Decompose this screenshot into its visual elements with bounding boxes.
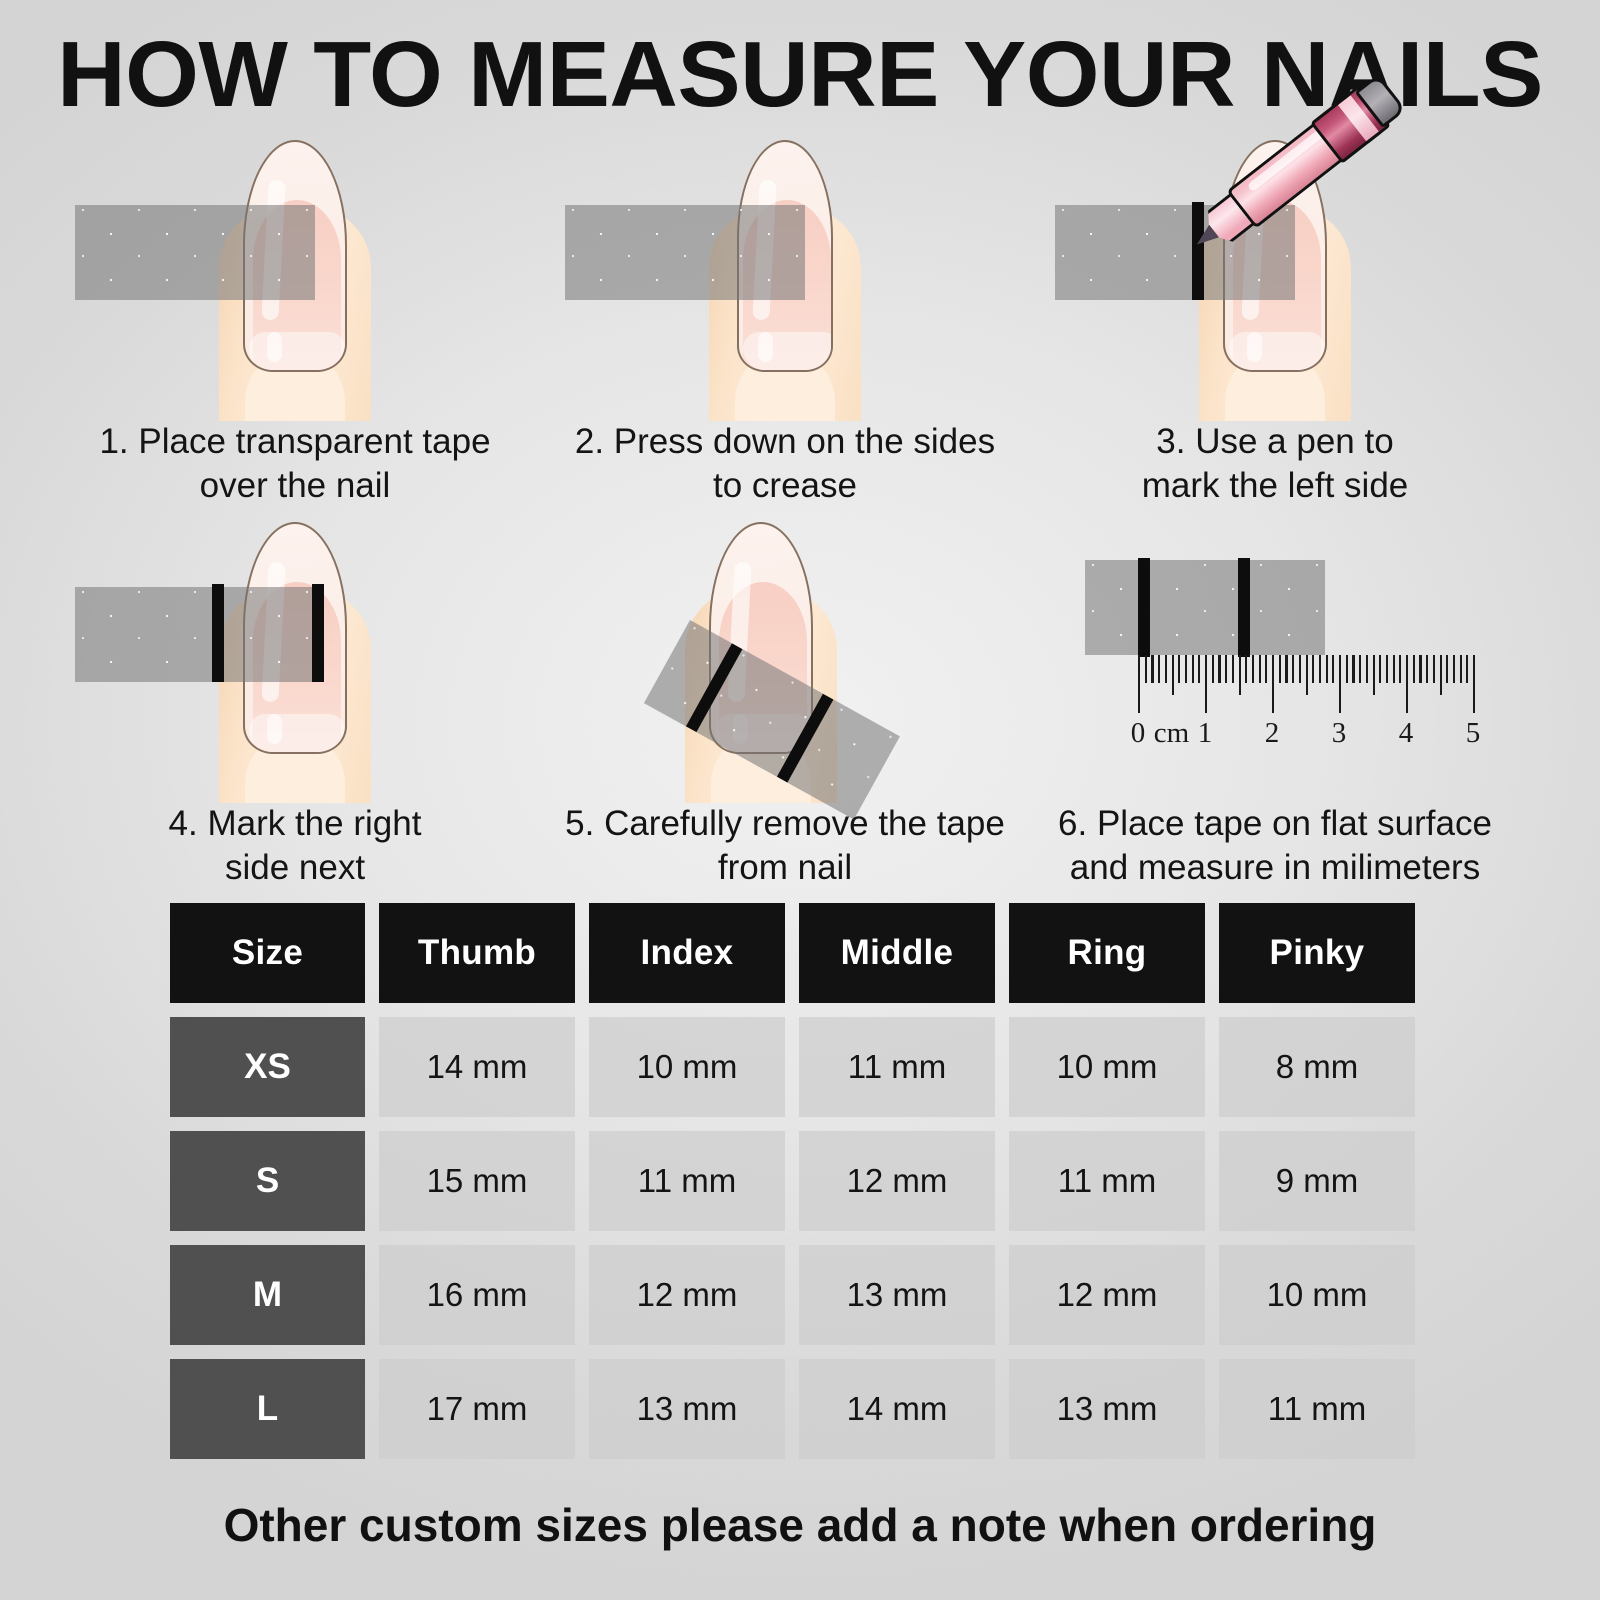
- table-cell-value: 13 mm: [799, 1245, 995, 1345]
- step-5-caption-line1: 5. Carefully remove the tape: [565, 804, 1005, 843]
- table-cell-value: 15 mm: [379, 1131, 575, 1231]
- ruler-tick-major: [1406, 655, 1408, 713]
- table-cell-value: 13 mm: [589, 1359, 785, 1459]
- table-header-pinky: Pinky: [1219, 903, 1415, 1003]
- step-3-caption-line2: mark the left side: [1142, 466, 1409, 505]
- step-3: 3. Use a pen to mark the left side: [1040, 130, 1510, 405]
- ruler-tick-minor: [1426, 655, 1428, 683]
- tape-strip-icon: [75, 587, 315, 682]
- tape-texture: [565, 205, 805, 300]
- ruler-tick-major: [1272, 655, 1274, 713]
- ruler-tick-minor: [1312, 655, 1314, 683]
- ruler-tick-minor: [1460, 655, 1462, 683]
- table-cell-value: 11 mm: [799, 1017, 995, 1117]
- ruler-tick-minor: [1185, 655, 1187, 683]
- ruler-label-1: 1: [1198, 717, 1213, 750]
- step-6-caption-line2: and measure in milimeters: [1070, 848, 1480, 887]
- step-4-caption-line2: side next: [225, 848, 365, 887]
- ruler-tick-minor: [1413, 655, 1415, 683]
- table-row: M16 mm12 mm13 mm12 mm10 mm: [170, 1245, 1466, 1345]
- ruler-tick-minor: [1279, 655, 1281, 683]
- ruler-tick-minor: [1212, 655, 1214, 683]
- step-4-illustration: [60, 512, 530, 787]
- ruler-tick-minor: [1245, 655, 1247, 683]
- ruler-tick-minor: [1386, 655, 1388, 683]
- ruler-tick-half: [1239, 655, 1241, 695]
- ruler-tick-half: [1306, 655, 1308, 695]
- ruler-tick-minor: [1352, 655, 1354, 683]
- step-3-caption: 3. Use a pen to mark the left side: [1040, 420, 1510, 509]
- step-3-caption-line1: 3. Use a pen to: [1156, 422, 1393, 461]
- tape-texture: [75, 587, 315, 682]
- ruler-tick-major: [1339, 655, 1341, 713]
- step-6-caption: 6. Place tape on flat surface and measur…: [1025, 802, 1525, 891]
- step-4-caption: 4. Mark the right side next: [60, 802, 530, 891]
- ruler-tick-minor: [1178, 655, 1180, 683]
- table-cell-value: 12 mm: [589, 1245, 785, 1345]
- nail-gloss-small: [758, 332, 773, 362]
- table-row: XS14 mm10 mm11 mm10 mm8 mm: [170, 1017, 1466, 1117]
- ruler-tick-minor: [1192, 655, 1194, 683]
- ruler-tick-minor: [1165, 655, 1167, 683]
- nail-tip: [1229, 332, 1325, 370]
- ruler-tick-major: [1138, 655, 1140, 713]
- tape-strip-icon: [75, 205, 315, 300]
- table-header-middle: Middle: [799, 903, 995, 1003]
- ruler-tick-major: [1473, 655, 1475, 713]
- nail-gloss-small: [267, 714, 282, 744]
- ruler-tick-minor: [1225, 655, 1227, 683]
- ruler-label-3: 3: [1332, 717, 1347, 750]
- ruler-tick-minor: [1265, 655, 1267, 683]
- ruler-tick-minor: [1446, 655, 1448, 683]
- ruler-tick-minor: [1379, 655, 1381, 683]
- step-5-illustration: [550, 512, 1020, 787]
- pen-mark-left: [212, 584, 224, 682]
- ruler-tick-minor: [1326, 655, 1328, 683]
- table-size-label: XS: [170, 1017, 365, 1117]
- table-cell-value: 17 mm: [379, 1359, 575, 1459]
- nail-tip: [249, 332, 345, 370]
- table-cell-value: 11 mm: [1219, 1359, 1415, 1459]
- nail-gloss-small: [1247, 332, 1262, 362]
- pen-mark-left: [1138, 558, 1150, 657]
- table-cell-value: 13 mm: [1009, 1359, 1205, 1459]
- tape-texture: [1085, 560, 1325, 655]
- step-2-illustration: [550, 130, 1020, 405]
- table-cell-value: 10 mm: [1219, 1245, 1415, 1345]
- table-cell-value: 10 mm: [1009, 1017, 1205, 1117]
- pen-mark-right: [312, 584, 324, 682]
- table-cell-value: 14 mm: [379, 1017, 575, 1117]
- ruler-tick-minor: [1151, 655, 1153, 683]
- pen-mark-right: [1238, 558, 1250, 657]
- step-5-caption: 5. Carefully remove the tape from nail: [550, 802, 1020, 891]
- ruler-tick-minor: [1366, 655, 1368, 683]
- step-1-illustration: [60, 130, 530, 405]
- nail-tip: [249, 714, 345, 752]
- ruler-tick-half: [1440, 655, 1442, 695]
- step-1-caption-line2: over the nail: [200, 466, 391, 505]
- ruler-tick-minor: [1346, 655, 1348, 683]
- ruler-tick-minor: [1232, 655, 1234, 683]
- step-5-caption-line2: from nail: [718, 848, 852, 887]
- ruler-label-5: 5: [1466, 717, 1481, 750]
- table-header-index: Index: [589, 903, 785, 1003]
- table-size-label: S: [170, 1131, 365, 1231]
- step-1-caption-line1: 1. Place transparent tape: [99, 422, 490, 461]
- ruler-tick-minor: [1299, 655, 1301, 683]
- step-2: 2. Press down on the sides to crease: [550, 130, 1020, 405]
- table-cell-value: 9 mm: [1219, 1131, 1415, 1231]
- ruler-tick-minor: [1198, 655, 1200, 683]
- ruler-tick-minor: [1393, 655, 1395, 683]
- table-cell-value: 11 mm: [589, 1131, 785, 1231]
- size-chart-table: SizeThumbIndexMiddleRingPinky XS14 mm10 …: [170, 903, 1466, 1473]
- nail-tip: [743, 332, 833, 370]
- ruler-tick-minor: [1433, 655, 1435, 683]
- ruler-label-0: 0: [1131, 717, 1146, 750]
- table-cell-value: 10 mm: [589, 1017, 785, 1117]
- step-2-caption-line2: to crease: [713, 466, 857, 505]
- footer-note: Other custom sizes please add a note whe…: [0, 1498, 1600, 1552]
- ruler-tick-minor: [1158, 655, 1160, 683]
- ruler-tick-minor: [1419, 655, 1421, 683]
- table-header-row: SizeThumbIndexMiddleRingPinky: [170, 903, 1466, 1003]
- ruler-tick-minor: [1252, 655, 1254, 683]
- tape-texture: [75, 205, 315, 300]
- ruler-tick-major: [1205, 655, 1207, 713]
- table-cell-value: 12 mm: [799, 1131, 995, 1231]
- table-cell-value: 14 mm: [799, 1359, 995, 1459]
- tape-strip-icon: [565, 205, 805, 300]
- step-6-illustration: 012345cm: [1040, 512, 1510, 787]
- ruler-tick-minor: [1218, 655, 1220, 683]
- ruler-tick-minor: [1292, 655, 1294, 683]
- table-size-label: L: [170, 1359, 365, 1459]
- step-2-caption: 2. Press down on the sides to crease: [550, 420, 1020, 509]
- step-2-caption-line1: 2. Press down on the sides: [575, 422, 995, 461]
- ruler-tick-minor: [1285, 655, 1287, 683]
- table-cell-value: 12 mm: [1009, 1245, 1205, 1345]
- nail-gloss-small: [267, 332, 282, 362]
- tape-strip-icon: [1085, 560, 1325, 655]
- table-cell-value: 11 mm: [1009, 1131, 1205, 1231]
- table-header-thumb: Thumb: [379, 903, 575, 1003]
- table-row: L17 mm13 mm14 mm13 mm11 mm: [170, 1359, 1466, 1459]
- step-1: 1. Place transparent tape over the nail: [60, 130, 530, 405]
- ruler-tick-minor: [1259, 655, 1261, 683]
- ruler-tick-minor: [1319, 655, 1321, 683]
- step-5: 5. Carefully remove the tape from nail: [550, 512, 1020, 787]
- table-cell-value: 16 mm: [379, 1245, 575, 1345]
- ruler-label-2: 2: [1265, 717, 1280, 750]
- ruler-tick-minor: [1359, 655, 1361, 683]
- table-header-size: Size: [170, 903, 365, 1003]
- ruler-label-4: 4: [1399, 717, 1414, 750]
- table-size-label: M: [170, 1245, 365, 1345]
- step-6-caption-line1: 6. Place tape on flat surface: [1058, 804, 1492, 843]
- step-4: 4. Mark the right side next: [60, 512, 530, 787]
- ruler-tick-minor: [1145, 655, 1147, 683]
- ruler-tick-half: [1373, 655, 1375, 695]
- ruler-tick-minor: [1453, 655, 1455, 683]
- ruler-tick-minor: [1332, 655, 1334, 683]
- ruler-icon: 012345cm: [1098, 655, 1498, 760]
- table-header-ring: Ring: [1009, 903, 1205, 1003]
- step-4-caption-line1: 4. Mark the right: [169, 804, 422, 843]
- step-3-illustration: [1040, 130, 1510, 405]
- ruler-unit-label: cm: [1154, 717, 1189, 750]
- ruler-tick-half: [1172, 655, 1174, 695]
- table-cell-value: 8 mm: [1219, 1017, 1415, 1117]
- step-6: 012345cm 6. Place tape on flat surface a…: [1040, 512, 1510, 787]
- ruler-tick-minor: [1399, 655, 1401, 683]
- ruler-tick-minor: [1466, 655, 1468, 683]
- table-row: S15 mm11 mm12 mm11 mm9 mm: [170, 1131, 1466, 1231]
- step-1-caption: 1. Place transparent tape over the nail: [60, 420, 530, 509]
